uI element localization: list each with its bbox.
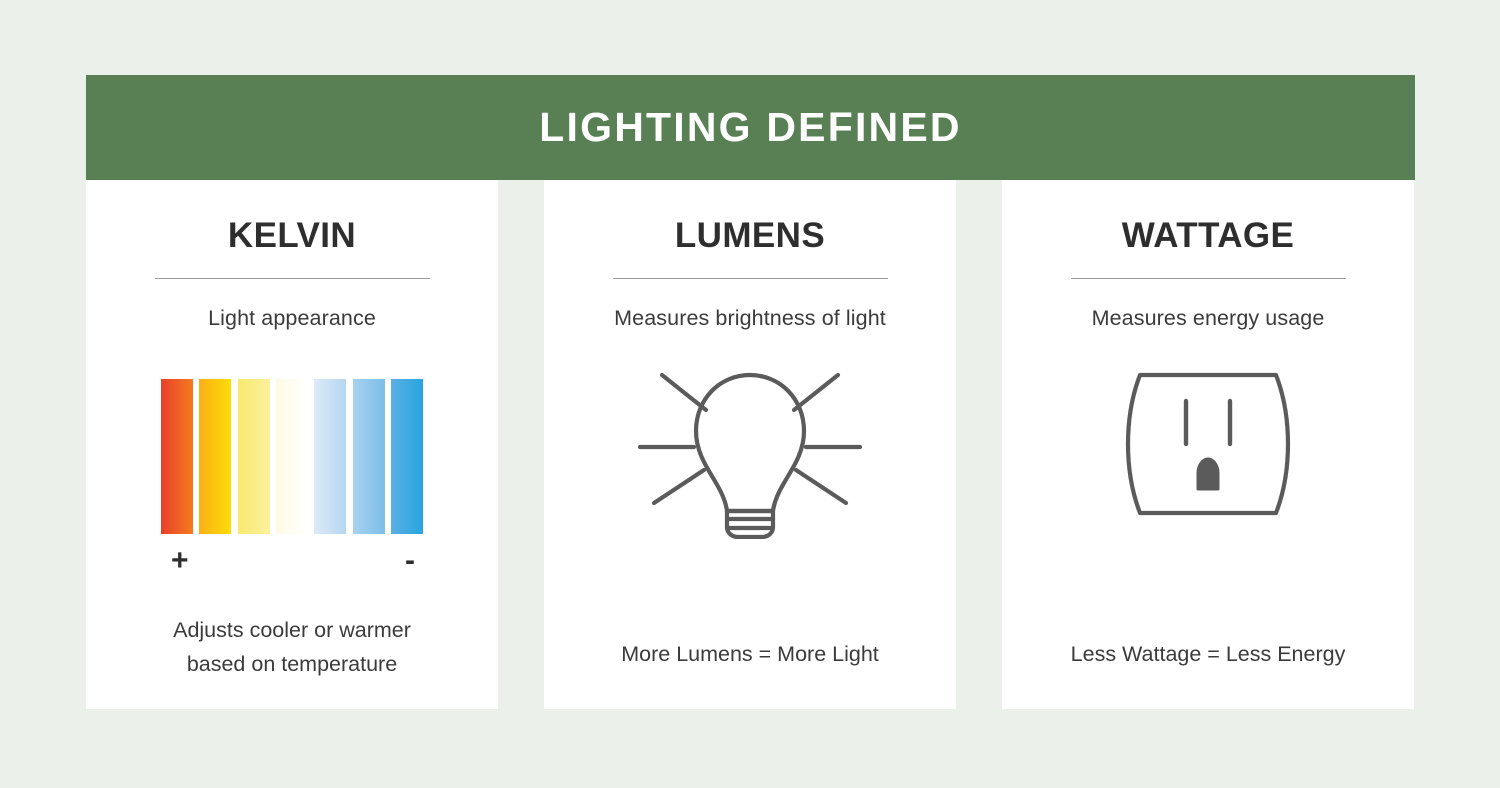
kelvin-bar-warm-red	[161, 379, 193, 534]
infographic-root: LIGHTING DEFINED KELVIN Light appearance…	[86, 75, 1415, 709]
electrical-outlet-icon	[1124, 371, 1292, 517]
card-subtitle-lumens: Measures brightness of light	[614, 306, 886, 331]
kelvin-bar-cream-white	[276, 379, 308, 534]
page-title: LIGHTING DEFINED	[539, 107, 961, 148]
card-subtitle-wattage: Measures energy usage	[1092, 306, 1325, 331]
kelvin-bar-pale-blue	[314, 379, 346, 534]
card-wattage: WATTAGE Measures energy usage Less	[1002, 180, 1414, 709]
kelvin-bar-blue	[391, 379, 423, 534]
title-divider	[155, 278, 430, 279]
kelvin-scale-labels: + -	[161, 546, 423, 576]
card-kelvin: KELVIN Light appearance + - Adjusts cool…	[86, 180, 498, 709]
card-footer-lumens: More Lumens = More Light	[544, 638, 956, 671]
card-footer-wattage: Less Wattage = Less Energy	[1002, 638, 1414, 671]
card-title-wattage: WATTAGE	[1122, 218, 1295, 253]
card-gap-1	[498, 180, 544, 709]
title-divider	[1071, 278, 1346, 279]
header-banner: LIGHTING DEFINED	[86, 75, 1415, 180]
lightbulb-icon	[632, 357, 868, 539]
kelvin-bar-light-blue	[353, 379, 385, 534]
title-divider	[613, 278, 888, 279]
card-title-kelvin: KELVIN	[228, 218, 356, 253]
card-row: KELVIN Light appearance + - Adjusts cool…	[86, 180, 1415, 709]
card-lumens: LUMENS Measures brightness of light	[544, 180, 956, 709]
kelvin-bar-pale-yellow	[238, 379, 270, 534]
card-gap-2	[956, 180, 1002, 709]
minus-sign: -	[405, 546, 415, 576]
color-temperature-scale: + -	[161, 379, 423, 576]
kelvin-bar-amber	[199, 379, 231, 534]
card-footer-kelvin: Adjusts cooler or warmerbased on tempera…	[86, 614, 498, 681]
card-title-lumens: LUMENS	[675, 218, 825, 253]
plus-sign: +	[171, 546, 189, 576]
card-subtitle-kelvin: Light appearance	[208, 306, 376, 331]
kelvin-bar-group	[161, 379, 423, 534]
